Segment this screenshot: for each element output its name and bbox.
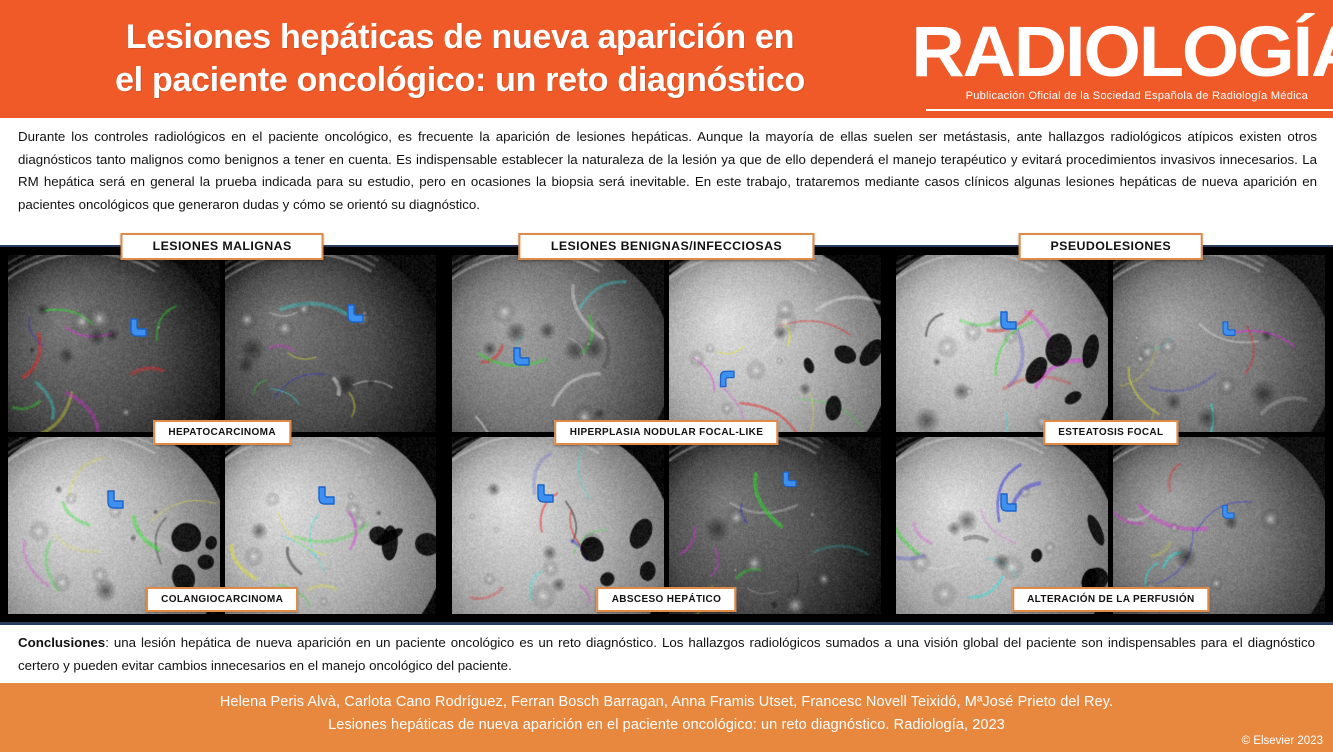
journal-masthead: RADIOLOGÍA Publicación Oficial de la Soc… [920, 0, 1333, 118]
mri-hepatocarcinoma-axial-right [225, 255, 437, 432]
page-title: Lesiones hepáticas de nueva aparición en… [0, 16, 920, 102]
graphical-abstract-poster: Lesiones hepáticas de nueva aparición en… [0, 0, 1333, 752]
scan-caption-top: HEPATOCARCINOMA [153, 420, 290, 445]
medical-scan-image [1113, 255, 1325, 432]
copyright-notice: © Elsevier 2023 [1242, 735, 1323, 747]
footer-citation: Lesiones hepáticas de nueva aparición en… [0, 714, 1333, 737]
medical-scan-image [225, 255, 437, 432]
lesion-arrow-icon [314, 481, 340, 511]
scan-caption-bottom: ABSCESO HEPÁTICO [597, 587, 737, 612]
lesion-arrow-icon [343, 299, 369, 329]
lesion-arrow-icon [533, 479, 559, 509]
mri-hepatocarcinoma-axial-left [8, 255, 220, 432]
scan-caption-bottom: ALTERACIÓN DE LA PERFUSIÓN [1012, 587, 1209, 612]
scan-caption-bottom: COLANGIOCARCINOMA [146, 587, 298, 612]
scan-row-1 [6, 255, 438, 432]
lesion-arrow-icon [1219, 317, 1240, 341]
medical-scan-image [669, 255, 881, 432]
figure-columns: LESIONES MALIGNASHEPATOCARCINOMACOLANGIO… [0, 247, 1333, 622]
figure-column-3: PSEUDOLESIONESESTEATOSIS FOCALALTERACIÓN… [889, 247, 1333, 622]
lesion-arrow-icon [716, 365, 739, 392]
section-header-chip: LESIONES MALIGNAS [121, 233, 324, 260]
page-title-line1: Lesiones hepáticas de nueva aparición en [14, 16, 906, 59]
page-title-line2: el paciente oncológico: un reto diagnóst… [14, 59, 906, 102]
poster-header: Lesiones hepáticas de nueva aparición en… [0, 0, 1333, 118]
scan-caption-top: ESTEATOSIS FOCAL [1043, 420, 1178, 445]
section-header-chip: LESIONES BENIGNAS/INFECCIOSAS [519, 233, 814, 260]
medical-scan-image [8, 255, 220, 432]
medical-scan-image [896, 255, 1108, 432]
lesion-arrow-icon [509, 342, 535, 372]
lesion-arrow-icon [126, 313, 152, 343]
mri-hnf-like-axial-left [452, 255, 664, 432]
mri-esteatosis-focal-axial [1113, 255, 1325, 432]
figure-panel: LESIONES MALIGNASHEPATOCARCINOMACOLANGIO… [0, 245, 1333, 625]
abstract-text: Durante los controles radiológicos en el… [0, 118, 1333, 228]
scan-row-1 [450, 255, 882, 432]
medical-scan-image [452, 255, 664, 432]
journal-name: RADIOLOGÍA [911, 17, 1333, 89]
mri-hnf-like-axial-right [669, 255, 881, 432]
lesion-arrow-icon [779, 467, 801, 493]
poster-footer: Helena Peris Alvà, Carlota Cano Rodrígue… [0, 683, 1333, 752]
section-header-chip: PSEUDOLESIONES [1019, 233, 1204, 260]
lesion-arrow-icon [1219, 501, 1239, 524]
scan-caption-top: HIPERPLASIA NODULAR FOCAL-LIKE [555, 420, 778, 445]
conclusions-label: Conclusiones [18, 635, 105, 650]
footer-authors: Helena Peris Alvà, Carlota Cano Rodrígue… [0, 691, 1333, 714]
ct-esteatosis-focal-axial [896, 255, 1108, 432]
conclusions-text: : una lesión hepática de nueva aparición… [18, 635, 1315, 673]
lesion-arrow-icon [103, 485, 129, 515]
scan-row-1 [895, 255, 1327, 432]
figure-column-1: LESIONES MALIGNASHEPATOCARCINOMACOLANGIO… [0, 247, 444, 622]
conclusions-block: Conclusiones: una lesión hepática de nue… [0, 628, 1333, 682]
lesion-arrow-icon [996, 488, 1022, 518]
masthead-rule [926, 109, 1333, 111]
figure-column-2: LESIONES BENIGNAS/INFECCIOSASHIPERPLASIA… [444, 247, 888, 622]
lesion-arrow-icon [996, 306, 1022, 336]
